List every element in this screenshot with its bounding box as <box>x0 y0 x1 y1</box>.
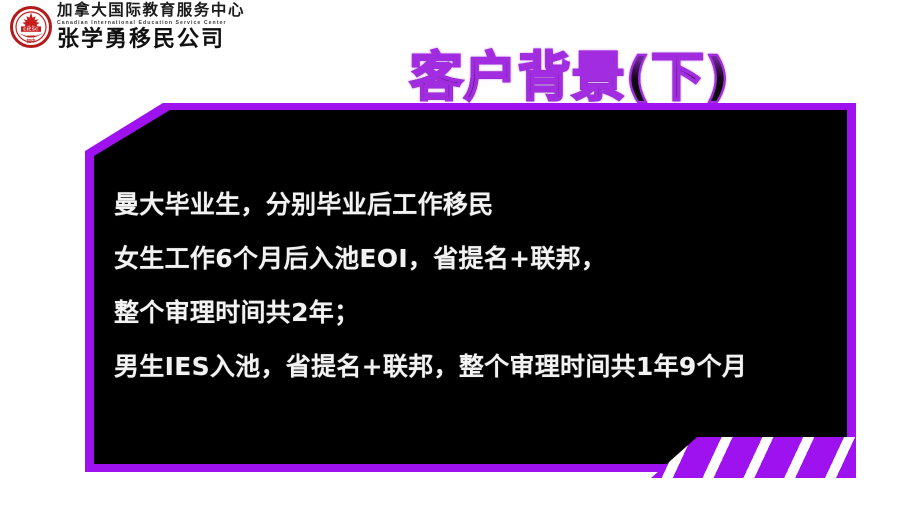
presentation-slide: CIESC 1998 加中 加拿大国际教育服务中心 Canadian Inter… <box>0 0 917 516</box>
slide-title-container: 客户背景(下) <box>355 44 785 110</box>
body-line: 整个审理时间共2年； <box>114 286 844 340</box>
body-line: 曼大毕业生，分别毕业后工作移民 <box>114 178 844 232</box>
svg-text:加中: 加中 <box>26 37 36 44</box>
logo-company-en: Canadian International Education Service… <box>57 21 245 26</box>
svg-text:CIESC: CIESC <box>23 27 39 32</box>
logo-text-group: 加拿大国际教育服务中心 Canadian International Educa… <box>57 3 245 51</box>
body-text-block: 曼大毕业生，分别毕业后工作移民 女生工作6个月后入池EOI，省提名+联邦， 整个… <box>114 178 844 394</box>
logo-company-cn-top: 加拿大国际教育服务中心 <box>57 3 245 19</box>
logo-company-cn-main: 张学勇移民公司 <box>57 29 245 51</box>
svg-text:1998: 1998 <box>27 34 34 38</box>
body-line: 男生IES入池，省提名+联邦，整个审理时间共1年9个月 <box>114 340 844 394</box>
ciesc-seal-icon: CIESC 1998 加中 <box>10 6 52 48</box>
body-line: 女生工作6个月后入池EOI，省提名+联邦， <box>114 232 844 286</box>
company-logo: CIESC 1998 加中 加拿大国际教育服务中心 Canadian Inter… <box>10 3 245 51</box>
page-title: 客户背景(下) <box>410 51 730 104</box>
